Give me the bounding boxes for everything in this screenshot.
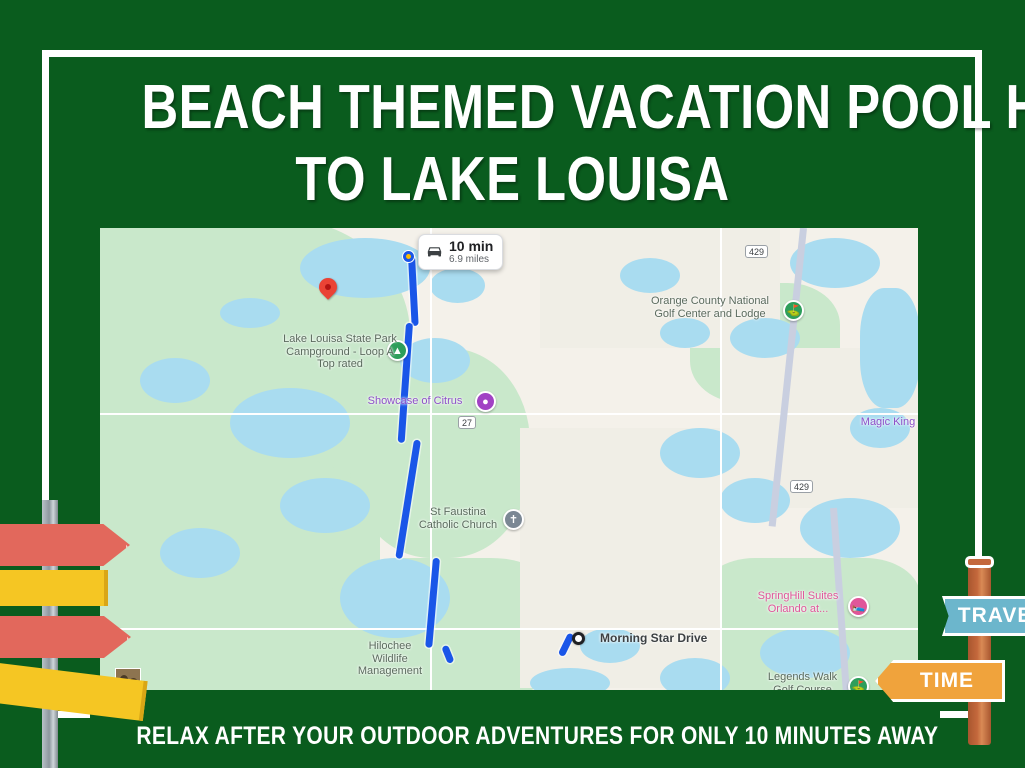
map-label-springhill-suites: SpringHill Suites Orlando at...: [748, 590, 848, 615]
signpost-left-arrow-2: [0, 570, 104, 606]
map-label-line: Orange County National: [635, 295, 785, 308]
sign-time[interactable]: TIME: [875, 660, 1005, 702]
hotel-icon[interactable]: 🛌: [848, 596, 869, 617]
map-label-line: Golf Center and Lodge: [635, 308, 785, 321]
map-label-line: Morning Star Drive: [600, 631, 707, 645]
route-origin-marker[interactable]: [403, 251, 414, 262]
highway-shield: 429: [745, 245, 768, 258]
map-road: [100, 628, 918, 630]
headline-line-1: BEACH THEMED VACATION POOL HOME: [141, 78, 883, 138]
map-pin-marker[interactable]: [319, 278, 337, 304]
golf-icon[interactable]: ⛳: [783, 300, 804, 321]
footer-caption: RELAX AFTER YOUR OUTDOOR ADVENTURES FOR …: [60, 722, 965, 751]
page-title: BEACH THEMED VACATION POOL HOME TO LAKE …: [60, 78, 965, 209]
map-label-line: Hilochee: [335, 640, 445, 653]
map-label-line: Management: [335, 665, 445, 678]
map-screenshot[interactable]: ▲ ● ⛳ ✝ 🛌 ⛳ 429 27 429 Lake Louisa State…: [100, 228, 918, 694]
signpost-left-arrow-3: [0, 616, 131, 658]
highway-shield: 429: [790, 480, 813, 493]
map-label-magic-kingdom: Magic King: [848, 416, 918, 429]
sign-time-label: TIME: [920, 669, 974, 693]
footer-text: RELAX AFTER YOUR OUTDOOR ADVENTURES FOR …: [136, 722, 938, 751]
map-water: [660, 428, 740, 478]
signpost-right-pole: [968, 560, 991, 745]
map-water: [800, 498, 900, 558]
poster-canvas: ▲ ● ⛳ ✝ 🛌 ⛳ 429 27 429 Lake Louisa State…: [0, 0, 1025, 768]
map-label-destination: Morning Star Drive: [600, 632, 750, 646]
map-label-line: Legends Walk: [755, 671, 850, 684]
map-water: [220, 298, 280, 328]
map-label-line: Showcase of Citrus: [355, 395, 475, 408]
map-water: [140, 358, 210, 403]
route-time-badge[interactable]: 10 min 6.9 miles: [418, 234, 503, 270]
headline-line-2: TO LAKE LOUISA: [141, 150, 883, 210]
arrow-shape-yellow: [0, 570, 108, 606]
map-water: [660, 318, 710, 348]
arrow-shape-red: [0, 616, 131, 658]
map-label-sublabel: Top rated: [250, 358, 430, 371]
arrow-shape-yellow: [0, 655, 148, 721]
car-icon: [426, 245, 443, 258]
map-label-st-faustina: St Faustina Catholic Church: [413, 506, 503, 531]
map-water: [620, 258, 680, 293]
map-label-line: Magic King: [848, 416, 918, 429]
map-water: [230, 388, 350, 458]
map-water: [280, 478, 370, 533]
map-label-line: Catholic Church: [413, 519, 503, 532]
map-label-line: Wildlife: [335, 653, 445, 666]
highway-shield: 27: [458, 416, 476, 429]
sign-travel-label: TRAVEL: [958, 604, 1025, 628]
map-label-line: St Faustina: [413, 506, 503, 519]
badge-duration: 10 min: [449, 239, 493, 254]
map-label-line: Orlando at...: [748, 603, 848, 616]
badge-distance: 6.9 miles: [449, 254, 493, 265]
church-icon[interactable]: ✝: [503, 509, 524, 530]
map-label-showcase-of-citrus: Showcase of Citrus: [355, 395, 475, 408]
signpost-right: TRAVEL TIME: [930, 560, 1025, 745]
sign-travel[interactable]: TRAVEL: [942, 596, 1025, 636]
route-destination-marker[interactable]: [572, 632, 585, 645]
signpost-left-arrow-4: [0, 655, 144, 720]
map-water: [860, 288, 918, 408]
attraction-icon[interactable]: ●: [475, 391, 496, 412]
arrow-shape-red: [0, 524, 130, 566]
map-label-line: Campground - Loop A: [250, 346, 430, 359]
map-road: [100, 413, 918, 415]
map-label-line: SpringHill Suites: [748, 590, 848, 603]
signpost-right-cap: [965, 556, 994, 568]
frame-bottom-mask: [90, 690, 940, 724]
signpost-left-arrow-1: [0, 524, 130, 566]
map-label-lake-louisa: Lake Louisa State Park Campground - Loop…: [250, 333, 430, 371]
map-label-hilochee: Hilochee Wildlife Management: [335, 640, 445, 678]
map-label-orange-county-golf: Orange County National Golf Center and L…: [635, 295, 785, 320]
map-label-line: Lake Louisa State Park: [250, 333, 430, 346]
map-water: [430, 268, 485, 303]
